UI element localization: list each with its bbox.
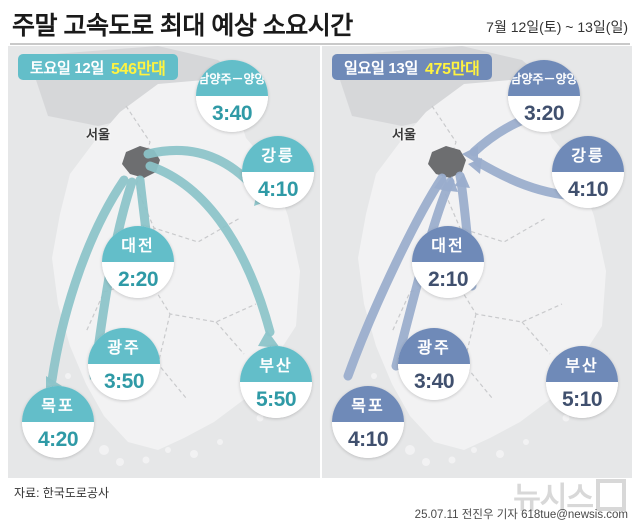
infographic-sheet: 주말 고속도로 최대 예상 소요시간 7월 12일(토) ~ 13일(일) — [0, 0, 640, 528]
panel-sunday: 일요일 13일 475만대 서울 남양주－양양 3:20 강릉 4:10 대전 … — [322, 46, 632, 478]
badge-time: 3:20 — [524, 102, 564, 126]
badge-city: 광주 — [107, 334, 140, 358]
badge-mokpo: 목포 4:20 — [22, 386, 94, 458]
badge-city: 남양주－양양 — [198, 70, 265, 87]
badge-city: 목포 — [351, 392, 384, 416]
day-tab-saturday: 토요일 12일 546만대 — [18, 54, 178, 80]
badge-time: 2:10 — [428, 268, 468, 292]
header: 주말 고속도로 최대 예상 소요시간 7월 12일(토) ~ 13일(일) — [0, 0, 640, 44]
badge-namyangju-yangyang: 남양주－양양 3:20 — [508, 60, 580, 132]
badge-time: 4:10 — [258, 178, 298, 202]
date-range: 7월 12일(토) ~ 13일(일) — [486, 17, 628, 37]
origin-label-seoul: 서울 — [392, 124, 416, 143]
badge-city: 대전 — [431, 232, 464, 256]
badge-gangneung: 강릉 4:10 — [242, 136, 314, 208]
day-label: 일요일 13일 — [344, 57, 418, 78]
badge-gwangju: 광주 3:40 — [398, 328, 470, 400]
page-title: 주말 고속도로 최대 예상 소요시간 — [12, 6, 353, 42]
origin-label-seoul: 서울 — [86, 124, 110, 143]
day-label: 토요일 12일 — [30, 57, 104, 78]
badge-time: 5:50 — [256, 388, 296, 412]
badge-time: 4:10 — [568, 178, 608, 202]
badge-time: 3:50 — [104, 370, 144, 394]
badge-mokpo: 목포 4:10 — [332, 386, 404, 458]
panel-saturday: 토요일 12일 546만대 서울 남양주－양양 3:40 강릉 4:10 대전 … — [8, 46, 320, 478]
vehicle-count: 546만대 — [111, 55, 166, 79]
badge-busan: 부산 5:50 — [240, 346, 312, 418]
badge-busan: 부산 5:10 — [546, 346, 618, 418]
header-divider — [10, 43, 630, 45]
badge-city: 남양주－양양 — [510, 70, 577, 87]
badge-namyangju-yangyang: 남양주－양양 3:40 — [196, 60, 268, 132]
byline: 25.07.11 전진우 기자 618tue@newsis.com — [415, 506, 628, 522]
badge-gangneung: 강릉 4:10 — [552, 136, 624, 208]
badge-city: 부산 — [259, 352, 292, 376]
badge-gwangju: 광주 3:50 — [88, 328, 160, 400]
badge-time: 5:10 — [562, 388, 602, 412]
badge-daejeon: 대전 2:20 — [102, 226, 174, 298]
badge-time: 4:10 — [348, 428, 388, 452]
badge-city: 대전 — [121, 232, 154, 256]
day-tab-sunday: 일요일 13일 475만대 — [332, 54, 492, 80]
badge-city: 부산 — [565, 352, 598, 376]
badge-city: 광주 — [417, 334, 450, 358]
badge-city: 강릉 — [571, 142, 604, 166]
badge-time: 3:40 — [212, 102, 252, 126]
badge-city: 목포 — [41, 392, 74, 416]
badge-time: 2:20 — [118, 268, 158, 292]
source-credit: 자료: 한국도로공사 — [14, 484, 109, 501]
badge-time: 4:20 — [38, 428, 78, 452]
badge-city: 강릉 — [261, 142, 294, 166]
badge-time: 3:40 — [414, 370, 454, 394]
vehicle-count: 475만대 — [425, 55, 480, 79]
badge-daejeon: 대전 2:10 — [412, 226, 484, 298]
